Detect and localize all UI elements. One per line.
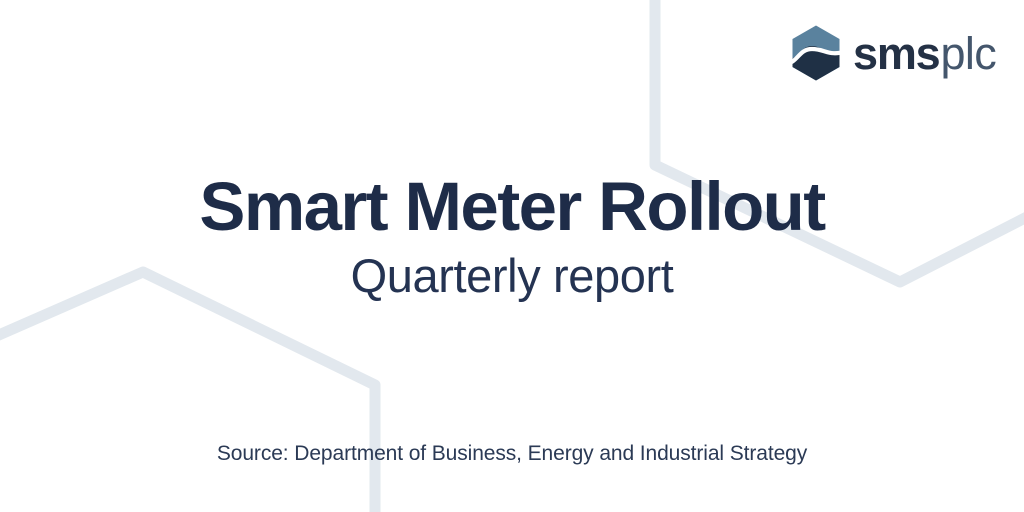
page-subtitle: Quarterly report bbox=[0, 251, 1024, 300]
headline-block: Smart Meter Rollout Quarterly report bbox=[0, 172, 1024, 300]
brand-logo: sms plc bbox=[790, 22, 1002, 84]
logo-text-sms: sms bbox=[853, 31, 939, 76]
logo-wordmark: sms plc bbox=[853, 31, 996, 76]
title-slide: sms plc Smart Meter Rollout Quarterly re… bbox=[0, 0, 1024, 512]
source-attribution: Source: Department of Business, Energy a… bbox=[0, 442, 1024, 466]
hexagon-outline-bottom-left-icon bbox=[0, 272, 375, 512]
hexagon-wave-icon bbox=[790, 24, 842, 82]
logo-text-plc: plc bbox=[940, 31, 996, 76]
page-title: Smart Meter Rollout bbox=[0, 172, 1024, 241]
